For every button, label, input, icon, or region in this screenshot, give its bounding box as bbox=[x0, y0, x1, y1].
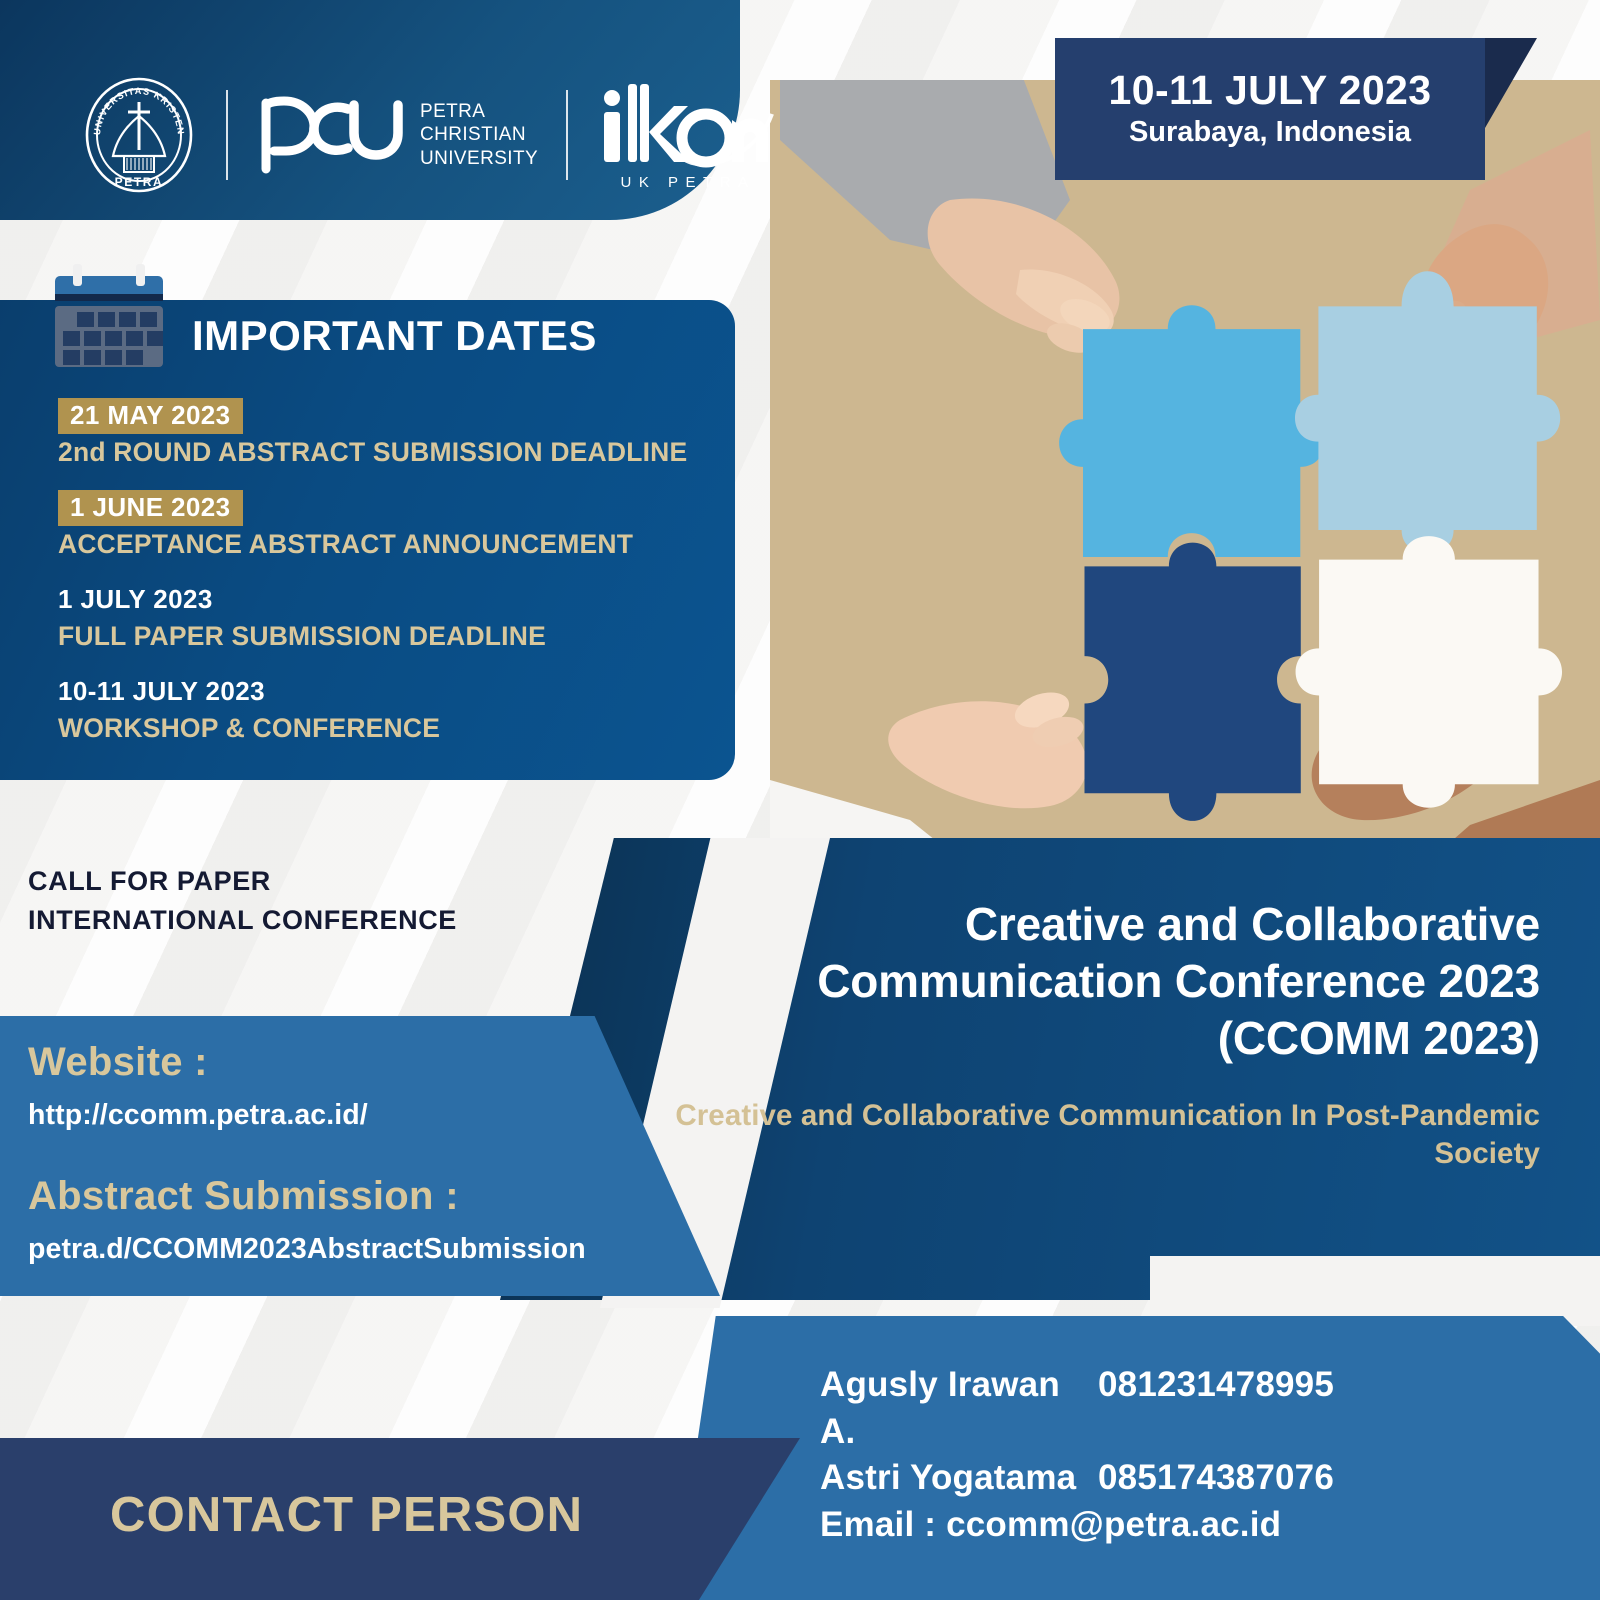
website-url[interactable]: http://ccomm.petra.ac.id/ bbox=[28, 1099, 688, 1132]
date-item: 10-11 JULY 2023 WORKSHOP & CONFERENCE bbox=[58, 674, 718, 744]
puzzle-photo bbox=[770, 80, 1600, 860]
puzzle-illustration bbox=[770, 80, 1600, 860]
abstract-submission-url[interactable]: petra.d/CCOMM2023AbstractSubmission bbox=[28, 1233, 688, 1266]
ikom-mark-icon bbox=[596, 80, 774, 172]
event-date-badge: 10-11 JULY 2023 Surabaya, Indonesia bbox=[1055, 38, 1485, 180]
badge-fold-decoration bbox=[1485, 38, 1537, 128]
svg-text:PETRA: PETRA bbox=[115, 175, 164, 189]
date-item: 1 JULY 2023 FULL PAPER SUBMISSION DEADLI… bbox=[58, 582, 718, 652]
logo-divider-2 bbox=[566, 90, 568, 180]
date-description: WORKSHOP & CONFERENCE bbox=[58, 713, 718, 744]
date-description: 2nd ROUND ABSTRACT SUBMISSION DEADLINE bbox=[58, 437, 718, 468]
contact-name: Astri Yogatama bbox=[820, 1455, 1098, 1502]
contact-phone[interactable]: 085174387076 bbox=[1098, 1455, 1334, 1502]
date-label: 21 MAY 2023 bbox=[58, 398, 243, 434]
logo-divider-1 bbox=[226, 90, 228, 180]
conference-poster: 10-11 JULY 2023 Surabaya, Indonesia bbox=[0, 0, 1600, 1600]
conference-subtitle: Creative and Collaborative Communication… bbox=[660, 1097, 1540, 1174]
date-description: ACCEPTANCE ABSTRACT ANNOUNCEMENT bbox=[58, 529, 718, 560]
conference-title-block: Creative and Collaborative Communication… bbox=[660, 896, 1540, 1174]
contact-name: Agusly Irawan A. bbox=[820, 1362, 1098, 1455]
pcu-logo: PETRA CHRISTIAN UNIVERSITY bbox=[256, 93, 538, 177]
date-label: 1 JUNE 2023 bbox=[58, 490, 243, 526]
logo-row: UNIVERSITAS KRISTEN PETRA PETRA CHRISTIA… bbox=[80, 75, 774, 195]
contact-details-list: Agusly Irawan A. 081231478995 Astri Yoga… bbox=[820, 1362, 1334, 1548]
calendar-icon bbox=[45, 262, 173, 367]
call-for-paper-line1: CALL FOR PAPER bbox=[28, 862, 457, 901]
contact-row: Agusly Irawan A. 081231478995 bbox=[820, 1362, 1334, 1455]
ikom-logo: UK PETRA bbox=[596, 80, 774, 191]
date-description: FULL PAPER SUBMISSION DEADLINE bbox=[58, 621, 718, 652]
website-label: Website : bbox=[28, 1040, 688, 1085]
date-label: 1 JULY 2023 bbox=[58, 582, 225, 618]
event-dates: 10-11 JULY 2023 bbox=[1109, 68, 1432, 113]
important-dates-heading: IMPORTANT DATES bbox=[192, 312, 597, 360]
contact-person-heading: CONTACT PERSON bbox=[110, 1487, 583, 1543]
contact-email[interactable]: Email : ccomm@petra.ac.id bbox=[820, 1502, 1334, 1549]
contact-phone[interactable]: 081231478995 bbox=[1098, 1362, 1334, 1455]
petra-seal-icon: UNIVERSITAS KRISTEN PETRA bbox=[80, 76, 198, 194]
call-for-paper-line2: INTERNATIONAL CONFERENCE bbox=[28, 901, 457, 940]
important-dates-list: 21 MAY 2023 2nd ROUND ABSTRACT SUBMISSIO… bbox=[58, 398, 718, 743]
links-content: Website : http://ccomm.petra.ac.id/ Abst… bbox=[28, 1040, 688, 1266]
call-for-paper-heading: CALL FOR PAPER INTERNATIONAL CONFERENCE bbox=[28, 862, 457, 940]
date-item: 1 JUNE 2023 ACCEPTANCE ABSTRACT ANNOUNCE… bbox=[58, 490, 718, 560]
date-label: 10-11 JULY 2023 bbox=[58, 674, 277, 710]
pcu-wordmark: PETRA CHRISTIAN UNIVERSITY bbox=[420, 100, 538, 170]
white-gap-decoration bbox=[1150, 1256, 1600, 1326]
contact-row: Astri Yogatama 085174387076 bbox=[820, 1455, 1334, 1502]
pcu-mark-icon bbox=[256, 93, 406, 177]
ikom-subtitle: UK PETRA bbox=[615, 174, 756, 191]
conference-title: Creative and Collaborative Communication… bbox=[660, 896, 1540, 1067]
abstract-submission-label: Abstract Submission : bbox=[28, 1174, 688, 1219]
date-item: 21 MAY 2023 2nd ROUND ABSTRACT SUBMISSIO… bbox=[58, 398, 718, 468]
event-location: Surabaya, Indonesia bbox=[1129, 115, 1411, 150]
